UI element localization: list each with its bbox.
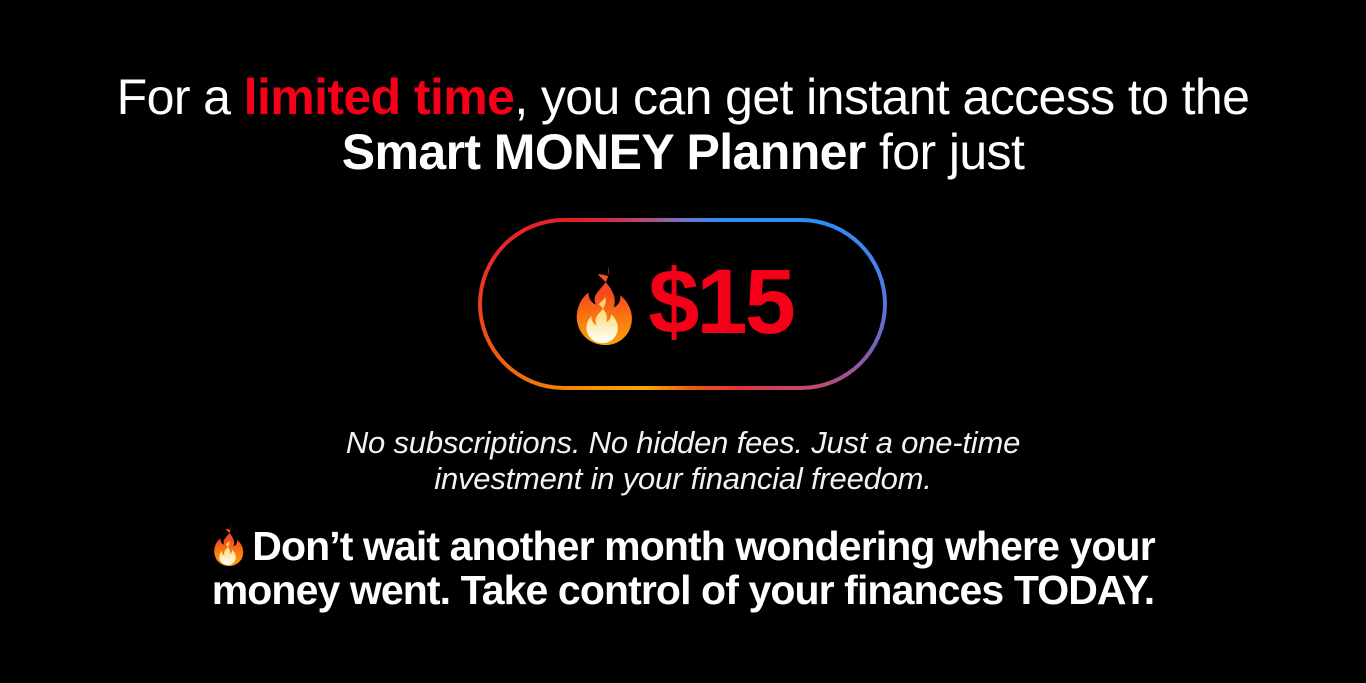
- cta-line-2: money went. Take control of your finance…: [0, 568, 1366, 612]
- subtitle-line-2: investment in your financial freedom.: [0, 461, 1366, 497]
- fire-icon: [572, 265, 634, 345]
- price-badge[interactable]: $15: [478, 218, 887, 390]
- headline-line-1: For a limited time, you can get instant …: [0, 72, 1366, 122]
- price-value: $15: [648, 256, 793, 348]
- headline-line2-suffix: for just: [866, 124, 1025, 180]
- headline-text-pre: For a: [117, 69, 244, 125]
- subtitle-line-1: No subscriptions. No hidden fees. Just a…: [0, 425, 1366, 461]
- subtitle: No subscriptions. No hidden fees. Just a…: [0, 425, 1366, 497]
- cta-text: Don’t wait another month wondering where…: [0, 524, 1366, 612]
- cta-line-1: Don’t wait another month wondering where…: [0, 524, 1366, 568]
- fire-icon: [211, 524, 245, 566]
- headline-accent-limited-time: limited time: [244, 69, 515, 125]
- price-badge-gradient-border: $15: [478, 218, 887, 390]
- page-title: For a limited time, you can get instant …: [0, 72, 1366, 177]
- cta-line-1-text: Don’t wait another month wondering where…: [252, 523, 1155, 569]
- promo-slide: For a limited time, you can get instant …: [0, 0, 1366, 683]
- headline-product-name: Smart MONEY Planner: [342, 124, 866, 180]
- headline-line-2: Smart MONEY Planner for just: [0, 127, 1366, 177]
- headline-text-post: , you can get instant access to the: [514, 69, 1249, 125]
- price-badge-inner: $15: [482, 222, 883, 386]
